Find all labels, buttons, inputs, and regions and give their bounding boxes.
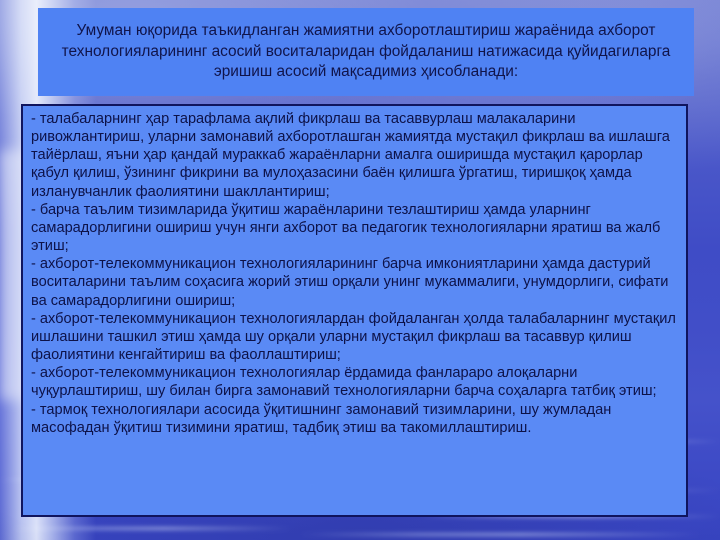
slide-body-box: - талабаларнинг ҳар тарафлама ақлий фикр… (21, 104, 688, 517)
bullet-item: - ахборот-телекоммуникацион технологияла… (31, 255, 680, 309)
bullet-item: - ахборот-телекоммуникацион технологияла… (31, 310, 680, 364)
slide-title: Умуман юқорида таъкидланган жамиятни ахб… (44, 21, 688, 82)
bullet-item: - талабаларнинг ҳар тарафлама ақлий фикр… (31, 110, 680, 201)
bullet-item: - барча таълим тизимларида ўқитиш жараён… (31, 201, 680, 255)
slide-title-box: Умуман юқорида таъкидланган жамиятни ахб… (38, 8, 694, 96)
bullet-item: - ахборот-телекоммуникацион технологияла… (31, 364, 680, 400)
bullet-item: - тармоқ технологиялари асосида ўқитишни… (31, 401, 680, 437)
presentation-slide: Умуман юқорида таъкидланган жамиятни ахб… (0, 0, 720, 540)
